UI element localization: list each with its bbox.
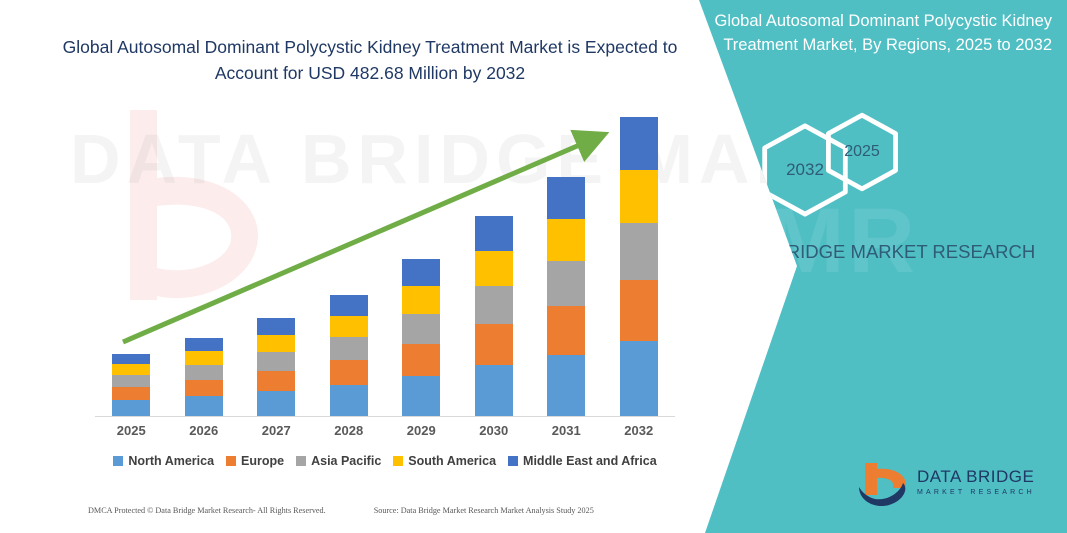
- growth-arrow-icon: [95, 110, 675, 416]
- dbmr-logo-mark: [855, 461, 913, 509]
- legend-label: Europe: [241, 454, 284, 468]
- legend-swatch-icon: [226, 456, 236, 466]
- x-tick-label: 2031: [530, 423, 602, 438]
- x-tick-label: 2025: [95, 423, 167, 438]
- x-tick-label: 2027: [240, 423, 312, 438]
- legend-item[interactable]: North America: [113, 454, 214, 468]
- teal-side-panel: DBMR Global Autosomal Dominant Polycysti…: [667, 0, 1067, 533]
- footer: DMCA Protected © Data Bridge Market Rese…: [88, 506, 678, 515]
- legend-item[interactable]: South America: [393, 454, 496, 468]
- footer-source: Source: Data Bridge Market Research Mark…: [374, 506, 594, 515]
- legend-item[interactable]: Asia Pacific: [296, 454, 381, 468]
- panel-brand-text: DATA BRIDGE MARKET RESEARCH: [707, 238, 1052, 266]
- legend-swatch-icon: [296, 456, 306, 466]
- legend-item[interactable]: Europe: [226, 454, 284, 468]
- legend-label: Middle East and Africa: [523, 454, 657, 468]
- legend-label: South America: [408, 454, 496, 468]
- x-axis-labels: 20252026202720282029203020312032: [95, 423, 675, 438]
- dbmr-logo-text: DATA BRIDGE MARKET RESEARCH: [917, 467, 1035, 496]
- legend-label: North America: [128, 454, 214, 468]
- hexagon-2025-label: 2025: [822, 112, 902, 192]
- legend-item[interactable]: Middle East and Africa: [508, 454, 657, 468]
- page-title: Global Autosomal Dominant Polycystic Kid…: [60, 34, 680, 87]
- x-tick-label: 2029: [385, 423, 457, 438]
- legend-swatch-icon: [508, 456, 518, 466]
- x-tick-label: 2028: [313, 423, 385, 438]
- logo-sub-text: MARKET RESEARCH: [917, 489, 1035, 496]
- footer-copyright: DMCA Protected © Data Bridge Market Rese…: [88, 506, 326, 515]
- x-tick-label: 2026: [168, 423, 240, 438]
- dbmr-logo: DATA BRIDGE MARKET RESEARCH: [855, 461, 1035, 513]
- hexagon-group: 2032 2025: [747, 112, 1037, 222]
- infographic-root: DATA BRIDGE MARKET RESEARCH Global Autos…: [0, 0, 1067, 533]
- legend-swatch-icon: [393, 456, 403, 466]
- x-tick-label: 2032: [603, 423, 675, 438]
- legend-swatch-icon: [113, 456, 123, 466]
- x-axis-line: [95, 416, 675, 417]
- hexagon-2025: 2025: [822, 112, 902, 192]
- legend-label: Asia Pacific: [311, 454, 381, 468]
- panel-title: Global Autosomal Dominant Polycystic Kid…: [707, 10, 1052, 58]
- chart-legend: North AmericaEuropeAsia PacificSouth Ame…: [95, 454, 675, 468]
- x-tick-label: 2030: [458, 423, 530, 438]
- logo-main-text: DATA BRIDGE: [917, 467, 1035, 487]
